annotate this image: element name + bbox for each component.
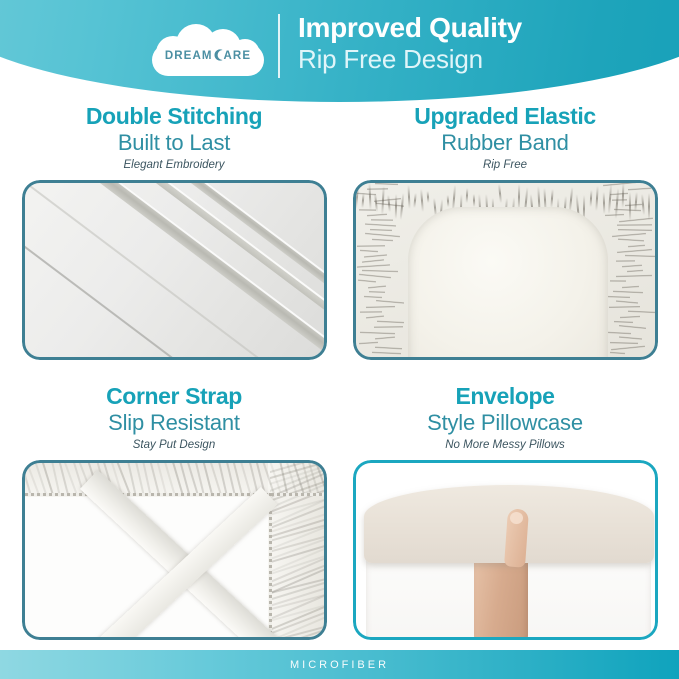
feature-caption: Corner Strap Slip Resistant Stay Put Des…	[14, 384, 334, 453]
feature-subtitle: Slip Resistant	[14, 410, 334, 436]
brand-name-second: ARE	[224, 50, 252, 62]
product-infographic: DREAMARE Improved Quality Rip Free Desig…	[0, 0, 679, 679]
feature-tagline: Stay Put Design	[14, 438, 334, 453]
feature-card-double-stitching: Double Stitching Built to Last Elegant E…	[14, 104, 334, 360]
feature-title: Envelope	[345, 384, 665, 410]
brand-logo: DREAMARE	[150, 20, 266, 76]
feature-subtitle: Style Pillowcase	[345, 410, 665, 436]
header-title: Improved Quality	[298, 12, 522, 44]
feature-photo-corner-strap	[22, 460, 327, 640]
feature-title: Upgraded Elastic	[345, 104, 665, 130]
brand-logo-text: DREAMARE	[150, 49, 266, 62]
feature-grid: Double Stitching Built to Last Elegant E…	[0, 104, 679, 649]
footer-label: MICROFIBER	[290, 659, 389, 671]
feature-photo-double-stitching	[22, 180, 327, 360]
header-titles: Improved Quality Rip Free Design	[298, 12, 522, 75]
feature-card-upgraded-elastic: Upgraded Elastic Rubber Band Rip Free	[345, 104, 665, 360]
feature-card-corner-strap: Corner Strap Slip Resistant Stay Put Des…	[14, 384, 334, 640]
feature-caption: Double Stitching Built to Last Elegant E…	[14, 104, 334, 173]
header-divider	[278, 14, 280, 78]
header-banner: DREAMARE Improved Quality Rip Free Desig…	[0, 0, 679, 104]
brand-name-first: DREAM	[165, 50, 213, 62]
cloud-icon	[150, 20, 266, 76]
feature-subtitle: Rubber Band	[345, 130, 665, 156]
footer-bar: MICROFIBER	[0, 650, 679, 679]
crescent-moon-icon	[213, 49, 224, 61]
header-subtitle: Rip Free Design	[298, 44, 522, 75]
feature-tagline: Elegant Embroidery	[14, 158, 334, 173]
feature-title: Corner Strap	[14, 384, 334, 410]
feature-tagline: Rip Free	[345, 158, 665, 173]
feature-tagline: No More Messy Pillows	[345, 438, 665, 453]
feature-caption: Upgraded Elastic Rubber Band Rip Free	[345, 104, 665, 173]
feature-photo-upgraded-elastic	[353, 180, 658, 360]
feature-subtitle: Built to Last	[14, 130, 334, 156]
feature-card-envelope-pillowcase: Envelope Style Pillowcase No More Messy …	[345, 384, 665, 640]
feature-title: Double Stitching	[14, 104, 334, 130]
feature-caption: Envelope Style Pillowcase No More Messy …	[345, 384, 665, 453]
feature-photo-envelope-pillowcase	[353, 460, 658, 640]
